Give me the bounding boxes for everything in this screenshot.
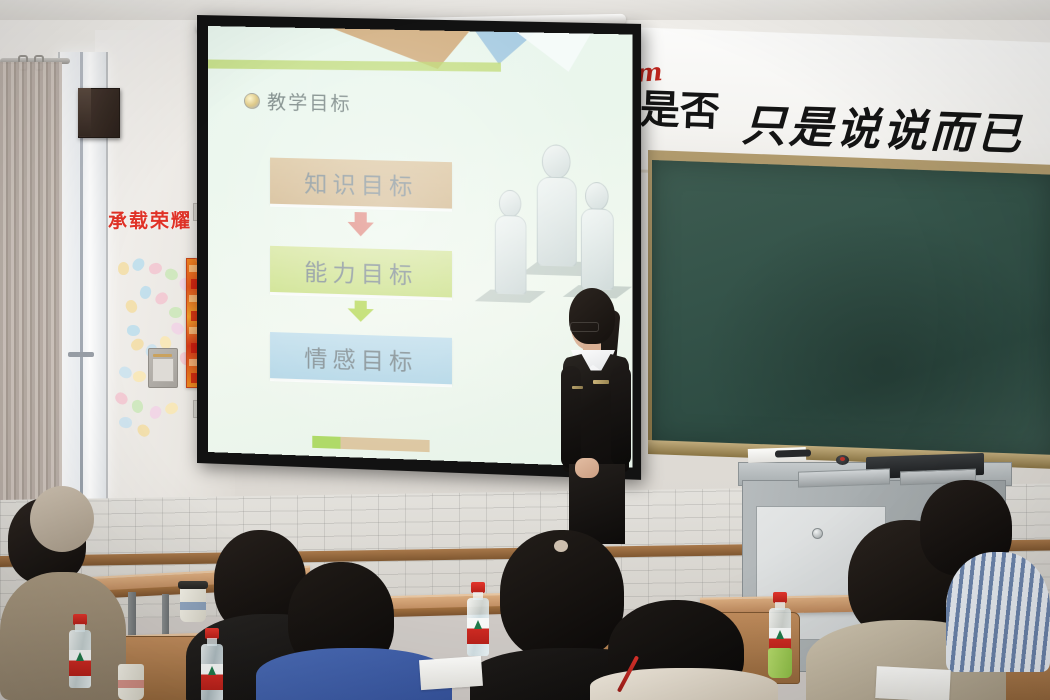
presenter-left-arm [561, 366, 581, 468]
presenter-hands [575, 458, 599, 478]
glasses-icon [570, 322, 599, 332]
slide-green-band [208, 59, 501, 71]
notebook-sheet[interactable] [875, 666, 951, 700]
presenter-teacher [545, 288, 655, 538]
paper-decoration [169, 307, 182, 318]
green-cup[interactable] [768, 648, 792, 678]
presenter-right-arm [611, 366, 631, 466]
slide-title-row: 教学目标 [244, 87, 352, 117]
slide-goal-emotion: 情感目标 [270, 332, 452, 384]
desk-leg [162, 594, 169, 638]
indicator-light-icon [836, 455, 849, 465]
presenter-hair [569, 288, 615, 344]
green-chalkboard[interactable] [652, 160, 1050, 457]
lapel-pin-icon [593, 380, 609, 384]
paper-decoration [118, 262, 129, 275]
down-arrow-icon [348, 222, 374, 237]
wall-slogan-primary: 承载荣耀 [108, 206, 192, 233]
down-arrow-icon [348, 308, 374, 322]
window-handle[interactable] [68, 352, 94, 357]
remote-control-icon[interactable] [775, 449, 811, 457]
water-bottle[interactable] [68, 614, 92, 688]
slide-footer-green [312, 436, 340, 449]
water-bottle[interactable] [466, 582, 490, 656]
coffee-cup[interactable] [180, 586, 206, 622]
circle-bullet-icon [244, 92, 260, 108]
switch-indicator [153, 354, 172, 357]
slide-goal-knowledge: 知识目标 [270, 158, 452, 209]
slide-footer-tan [340, 437, 429, 452]
av-deck-gray-left[interactable] [798, 468, 890, 487]
lapel-pin-icon [572, 386, 583, 389]
slide-triangle-white [511, 28, 593, 72]
arrow-stem [355, 212, 367, 222]
desk-leg [128, 592, 136, 638]
paper-cup[interactable] [118, 664, 144, 700]
wall-speaker-face [78, 88, 91, 136]
slide-title: 教学目标 [267, 87, 352, 116]
banner-secondary-text: 只是说说而已 [741, 89, 1025, 163]
lock-icon[interactable] [812, 528, 823, 539]
switch-inner[interactable] [152, 358, 174, 382]
slide-goal-ability: 能力目标 [270, 246, 452, 298]
notebook-sheet[interactable] [419, 656, 483, 690]
banner-main-text: 是否 [639, 77, 721, 138]
classroom-photo-scene: 承载荣耀 直 m 是否 只是说说而已 教学目标 知识目标 能力目标 情感目标 [0, 0, 1050, 700]
water-bottle[interactable] [200, 628, 224, 700]
window-curtain [0, 62, 62, 502]
